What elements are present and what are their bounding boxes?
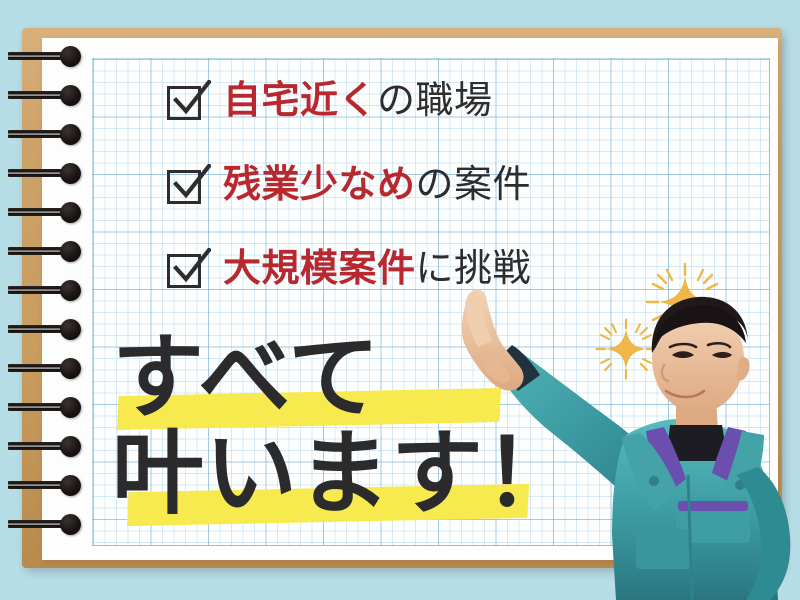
spiral-ring xyxy=(8,475,94,495)
checkbox-checked-icon[interactable] xyxy=(165,78,209,122)
spiral-ring xyxy=(8,436,94,456)
spiral-ring xyxy=(8,202,94,222)
spiral-ring xyxy=(8,280,94,300)
spiral-ring xyxy=(8,124,94,144)
checklist-item-3-accent: 大規模案件 xyxy=(223,246,416,290)
checklist-item-1-plain: の職場 xyxy=(377,78,493,122)
checklist-item-1: 自宅近くの職場 xyxy=(165,58,685,142)
spiral-ring xyxy=(8,397,94,417)
spiral-binding xyxy=(0,46,110,566)
checkbox-checked-icon[interactable] xyxy=(165,246,209,290)
spiral-ring xyxy=(8,358,94,378)
checklist-item-2: 残業少なめの案件 xyxy=(165,142,685,226)
checklist-item-2-accent: 残業少なめ xyxy=(223,162,416,206)
checklist-item-3-plain: に挑戦 xyxy=(416,246,532,290)
spiral-ring xyxy=(8,85,94,105)
spiral-ring xyxy=(8,241,94,261)
spiral-ring xyxy=(8,46,94,66)
checkbox-checked-icon[interactable] xyxy=(165,162,209,206)
headline-line-2: 叶います！ xyxy=(112,426,552,522)
spiral-ring xyxy=(8,163,94,183)
checklist-item-1-accent: 自宅近く xyxy=(223,78,377,122)
poster-stage: 自宅近くの職場 残業少なめの案件 大規模案件に挑戦 すべて xyxy=(0,0,800,600)
spiral-ring xyxy=(8,514,94,534)
checklist: 自宅近くの職場 残業少なめの案件 大規模案件に挑戦 xyxy=(165,58,685,310)
checklist-item-2-plain: の案件 xyxy=(416,162,532,206)
spiral-ring xyxy=(8,319,94,339)
